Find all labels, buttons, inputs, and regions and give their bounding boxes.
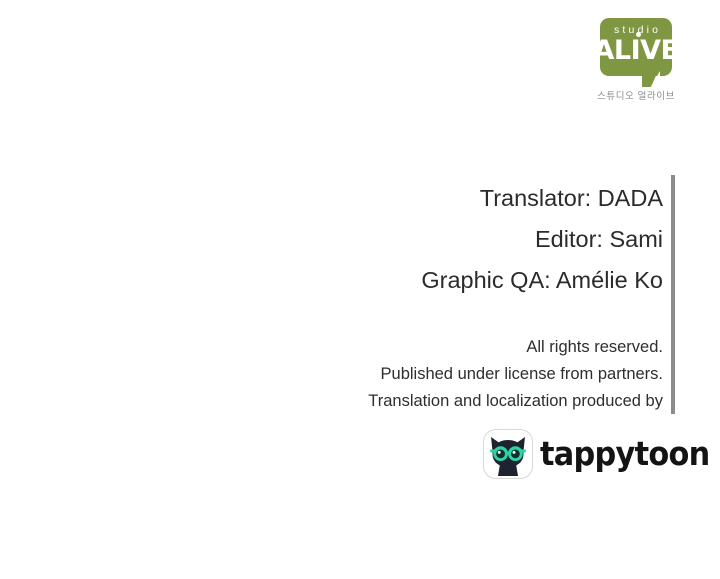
studio-logo-main-word-text: ALIVE	[594, 35, 679, 66]
credits-block: Translator: DADA Editor: Sami Graphic QA…	[120, 178, 663, 301]
credits-page: studio ALIVE 스튜디오 얼라이브 Translator: DADA …	[0, 0, 720, 579]
cat-with-glasses-icon	[487, 434, 529, 476]
credit-line-graphic-qa: Graphic QA: Amélie Ko	[120, 260, 663, 301]
legal-line-license: Published under license from partners.	[120, 361, 663, 388]
tappytoon-app-icon	[483, 429, 533, 479]
studio-alive-logo: studio ALIVE 스튜디오 얼라이브	[592, 18, 680, 110]
legal-line-producer: Translation and localization produced by	[120, 388, 663, 415]
legal-notice-block: All rights reserved. Published under lic…	[120, 334, 663, 415]
credit-line-editor: Editor: Sami	[120, 219, 663, 260]
studio-logo-korean-subtitle: 스튜디오 얼라이브	[592, 92, 680, 102]
speech-bubble-tail-mask	[650, 71, 660, 88]
tappytoon-wordmark: tappytoon	[540, 437, 709, 470]
vertical-divider	[671, 175, 675, 414]
studio-logo-main-word: ALIVE	[592, 37, 680, 64]
legal-line-rights: All rights reserved.	[120, 334, 663, 361]
credit-line-translator: Translator: DADA	[120, 178, 663, 219]
tappytoon-logo: tappytoon	[483, 427, 675, 481]
i-dot-icon	[636, 32, 641, 37]
